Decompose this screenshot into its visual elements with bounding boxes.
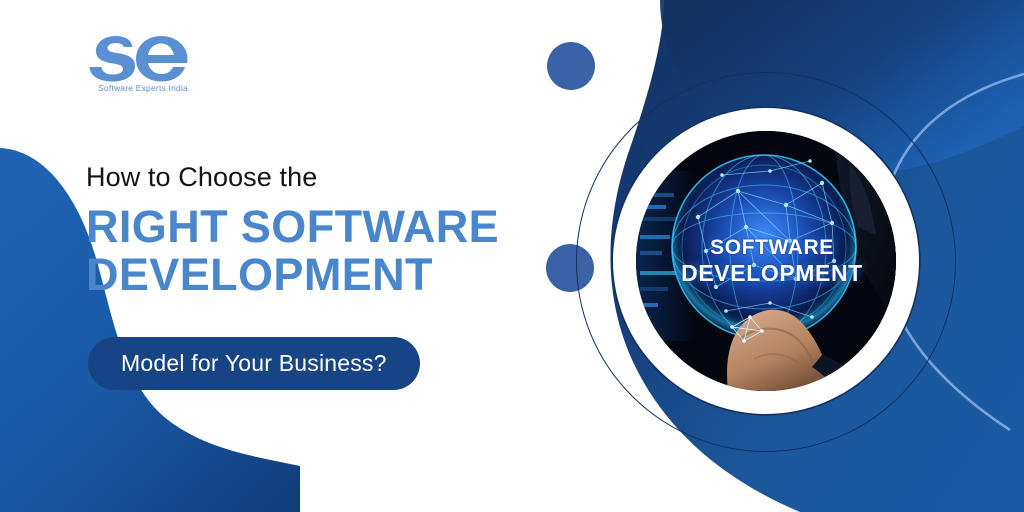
hero-headline-line-2: DEVELOPMENT xyxy=(86,251,556,299)
hero-kicker: How to Choose the xyxy=(86,162,556,193)
hero-headline-line-1: RIGHT SOFTWARE xyxy=(86,201,499,252)
hero-image: SOFTWARE DEVELOPMENT xyxy=(636,131,896,391)
hero-image-circle: SOFTWARE DEVELOPMENT xyxy=(613,108,919,414)
digital-globe-illustration xyxy=(636,131,896,391)
se-monogram-icon xyxy=(89,34,197,82)
hero-copy: How to Choose the RIGHT SOFTWARE DEVELOP… xyxy=(86,162,556,298)
hero-headline: RIGHT SOFTWARE DEVELOPMENT xyxy=(86,203,556,298)
brand-tagline: Software Experts India xyxy=(78,83,208,93)
promo-banner: Software Experts India How to Choose the… xyxy=(0,0,1024,512)
brand-logo[interactable]: Software Experts India xyxy=(78,34,208,102)
decorative-dot-top xyxy=(547,42,595,90)
cta-button[interactable]: Model for Your Business? xyxy=(88,337,420,390)
